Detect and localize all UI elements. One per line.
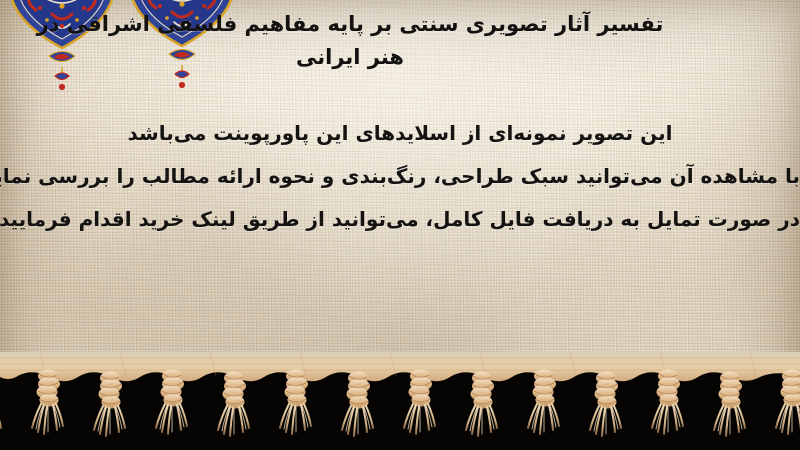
carpet-knotted-fringe — [0, 350, 800, 450]
body-line-1: این تصویر نمونه‌ای از اسلایدهای این پاور… — [0, 112, 800, 155]
slide-title: تفسیر آثار تصویری سنتی بر پایه مفاهیم فل… — [0, 8, 800, 74]
body-line-3: در صورت تمایل به دریافت فایل کامل، می‌تو… — [0, 198, 800, 241]
slide-canvas: تفسیر آثار تصویری سنتی بر پایه مفاهیم فل… — [0, 0, 800, 450]
body-line-2: با مشاهده آن می‌توانید سبک طراحی، رنگ‌بن… — [0, 155, 800, 198]
slide-body: این تصویر نمونه‌ای از اسلایدهای این پاور… — [0, 112, 800, 241]
fringe-tassels — [0, 350, 800, 450]
